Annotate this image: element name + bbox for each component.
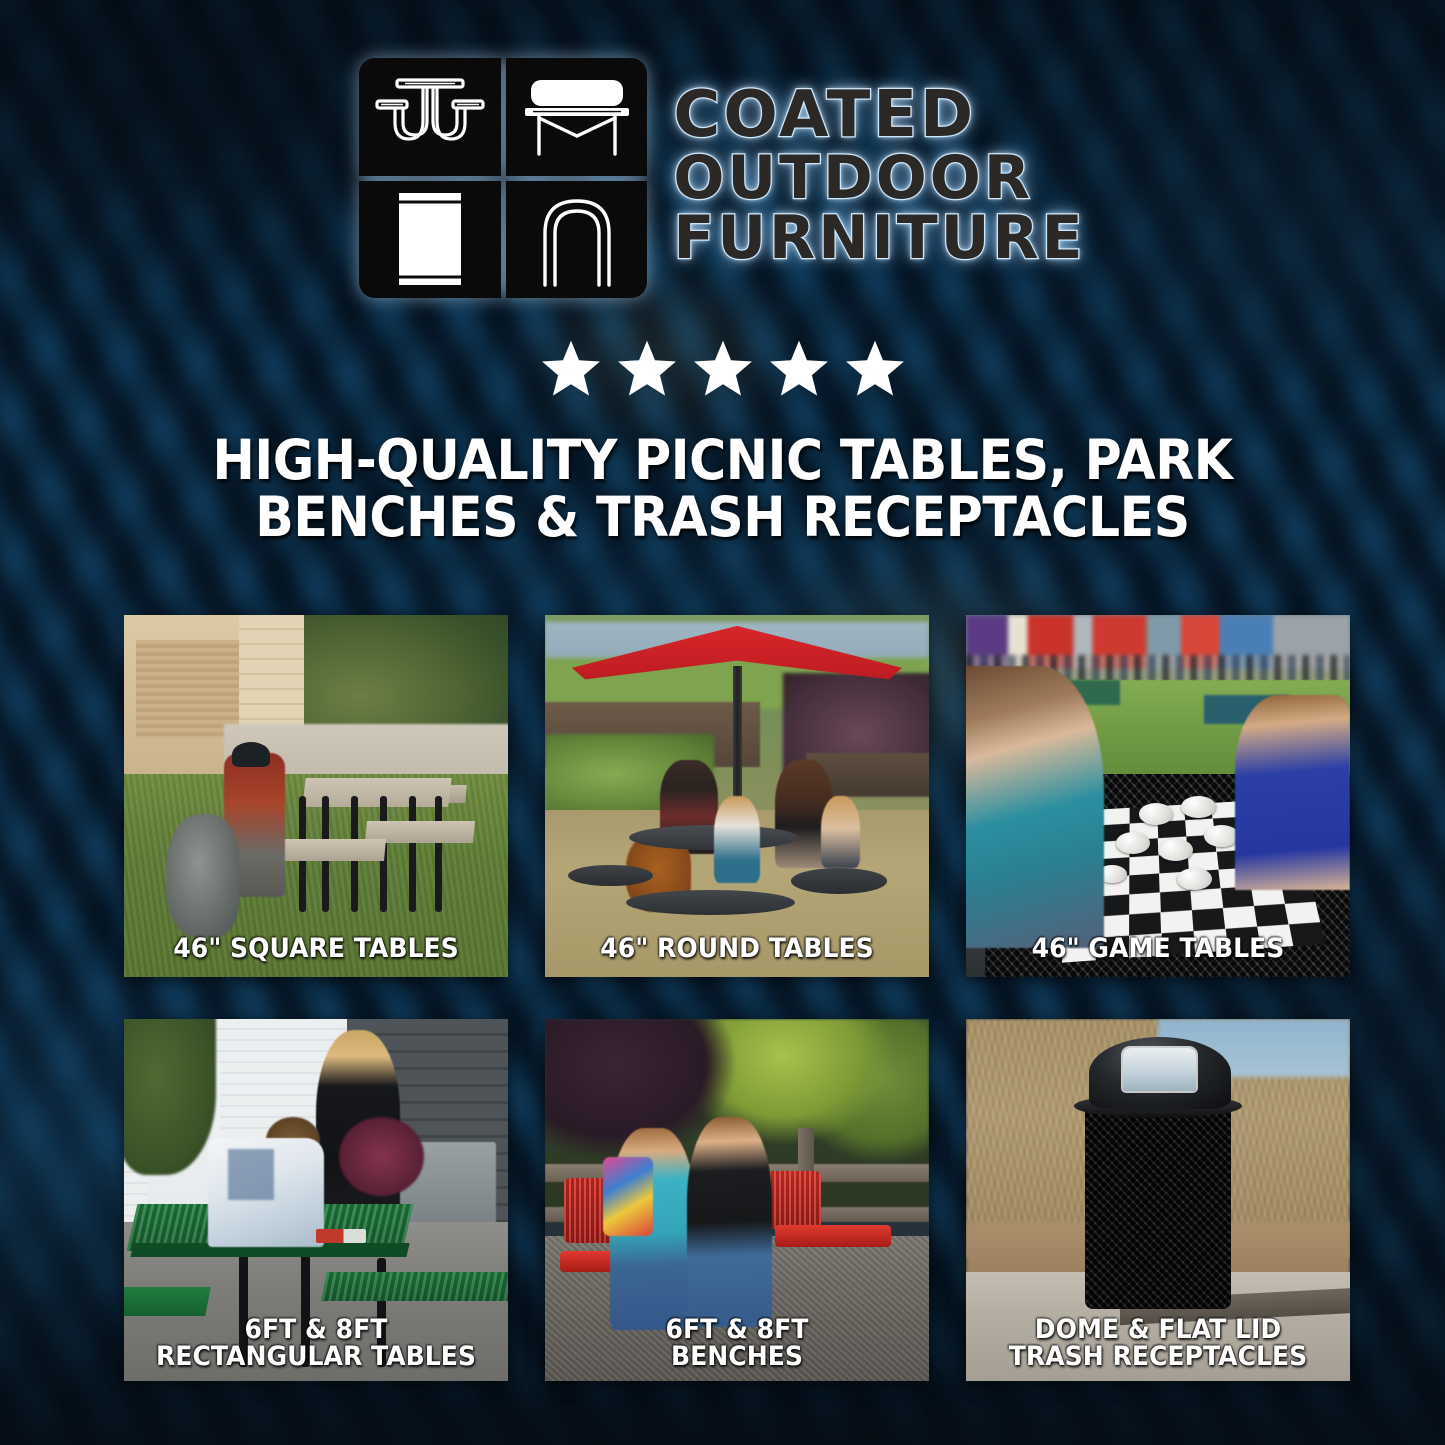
star-icon xyxy=(768,338,830,400)
caption-line-1: 46" ROUND TABLES xyxy=(566,935,908,963)
page-content: COATED OUTDOOR FURNITURE HIGH-QUALITY PI… xyxy=(0,0,1445,1445)
product-photo-round-tables xyxy=(545,615,929,977)
product-tile-trash-receptacles[interactable]: DOME & FLAT LID TRASH RECEPTACLES xyxy=(966,1019,1350,1381)
product-tile-rectangular-tables[interactable]: 6FT & 8FT RECTANGULAR TABLES xyxy=(124,1019,508,1381)
caption-line-1: 6FT & 8FT xyxy=(566,1316,908,1344)
picnic-table-icon xyxy=(359,58,501,176)
product-photo-square-tables xyxy=(124,615,508,977)
product-caption: 6FT & 8FT BENCHES xyxy=(558,1316,915,1371)
page-headline: HIGH-QUALITY PICNIC TABLES, PARK BENCHES… xyxy=(58,432,1387,545)
headline-line-1: HIGH-QUALITY PICNIC TABLES, PARK xyxy=(113,432,1332,489)
headline-line-2: BENCHES & TRASH RECEPTACLES xyxy=(113,489,1332,546)
product-tile-benches[interactable]: 6FT & 8FT BENCHES xyxy=(545,1019,929,1381)
product-caption: 6FT & 8FT RECTANGULAR TABLES xyxy=(137,1316,494,1371)
caption-line-2: TRASH RECEPTACLES xyxy=(987,1343,1329,1371)
wordmark-line-2: OUTDOOR xyxy=(673,149,1033,208)
caption-line-2: BENCHES xyxy=(566,1343,908,1371)
star-icon xyxy=(844,338,906,400)
bike-rack-icon xyxy=(506,181,648,299)
star-icon xyxy=(692,338,754,400)
wordmark-line-3: FURNITURE xyxy=(673,209,1085,268)
product-photo-game-tables xyxy=(966,615,1350,977)
product-caption: 46" SQUARE TABLES xyxy=(137,935,494,963)
product-grid: 46" SQUARE TABLES xyxy=(124,615,1322,1381)
caption-line-1: 6FT & 8FT xyxy=(145,1316,487,1344)
park-bench-icon xyxy=(506,58,648,176)
star-icon xyxy=(616,338,678,400)
trash-receptacle-icon xyxy=(359,181,501,299)
caption-line-1: 46" GAME TABLES xyxy=(987,935,1329,963)
product-caption: DOME & FLAT LID TRASH RECEPTACLES xyxy=(979,1316,1336,1371)
caption-line-2: RECTANGULAR TABLES xyxy=(145,1343,487,1371)
product-tile-square-tables[interactable]: 46" SQUARE TABLES xyxy=(124,615,508,977)
star-icon xyxy=(540,338,602,400)
brand-wordmark: COATED OUTDOOR FURNITURE xyxy=(673,84,1085,272)
product-caption: 46" ROUND TABLES xyxy=(558,935,915,963)
star-rating xyxy=(0,338,1445,400)
wordmark-line-1: COATED xyxy=(673,84,976,147)
caption-line-1: DOME & FLAT LID xyxy=(987,1316,1329,1344)
product-tile-game-tables[interactable]: 46" GAME TABLES xyxy=(966,615,1350,977)
caption-line-1: 46" SQUARE TABLES xyxy=(145,935,487,963)
logo-mark-icon xyxy=(359,58,647,298)
product-caption: 46" GAME TABLES xyxy=(979,935,1336,963)
brand-logo[interactable]: COATED OUTDOOR FURNITURE xyxy=(0,58,1445,298)
product-tile-round-tables[interactable]: 46" ROUND TABLES xyxy=(545,615,929,977)
